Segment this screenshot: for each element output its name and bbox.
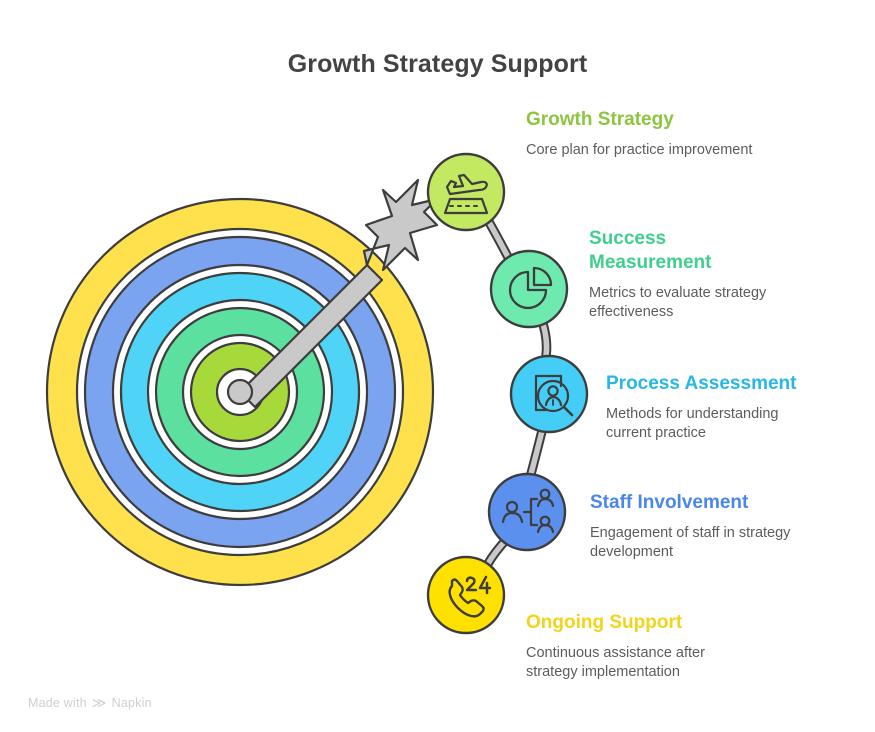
step-text-staff-involvement: Staff Involvement Engagement of staff in… <box>590 491 840 562</box>
step-description-success-measurement: Metrics to evaluate strategy effectivene… <box>589 284 804 322</box>
step-circle-growth-strategy[interactable] <box>428 154 504 230</box>
step-text-ongoing-support: Ongoing Support Continuous assistance af… <box>526 611 776 682</box>
step-title-ongoing-support: Ongoing Support <box>526 611 776 635</box>
step-title-process-assessment: Process Assessment <box>606 372 856 396</box>
watermark-brand: Napkin <box>112 696 152 710</box>
step-text-growth-strategy: Growth Strategy Core plan for practice i… <box>526 108 776 160</box>
step-circle-staff-involvement[interactable] <box>489 474 565 550</box>
step-description-growth-strategy: Core plan for practice improvement <box>526 141 776 160</box>
step-text-success-measurement: Success Measurement Metrics to evaluate … <box>589 227 804 322</box>
step-description-ongoing-support: Continuous assistance after strategy imp… <box>526 644 726 682</box>
step-circle-process-assessment[interactable] <box>511 356 587 432</box>
step-description-process-assessment: Methods for understanding current practi… <box>606 405 806 443</box>
step-circle-success-measurement[interactable] <box>491 251 567 327</box>
arrow-hub <box>228 380 252 404</box>
step-circle-bg-5 <box>428 557 504 633</box>
napkin-logo-icon: ≫ <box>92 696 107 710</box>
napkin-watermark: Made with ≫ Napkin <box>28 696 152 710</box>
step-title-staff-involvement: Staff Involvement <box>590 491 840 515</box>
step-title-growth-strategy: Growth Strategy <box>526 108 776 132</box>
infographic-canvas: Growth Strategy Support <box>0 0 875 732</box>
watermark-prefix: Made with <box>28 696 87 710</box>
step-circle-ongoing-support[interactable] <box>428 557 504 633</box>
step-title-success-measurement: Success Measurement <box>589 227 729 275</box>
step-text-process-assessment: Process Assessment Methods for understan… <box>606 372 856 443</box>
step-description-staff-involvement: Engagement of staff in strategy developm… <box>590 524 805 562</box>
